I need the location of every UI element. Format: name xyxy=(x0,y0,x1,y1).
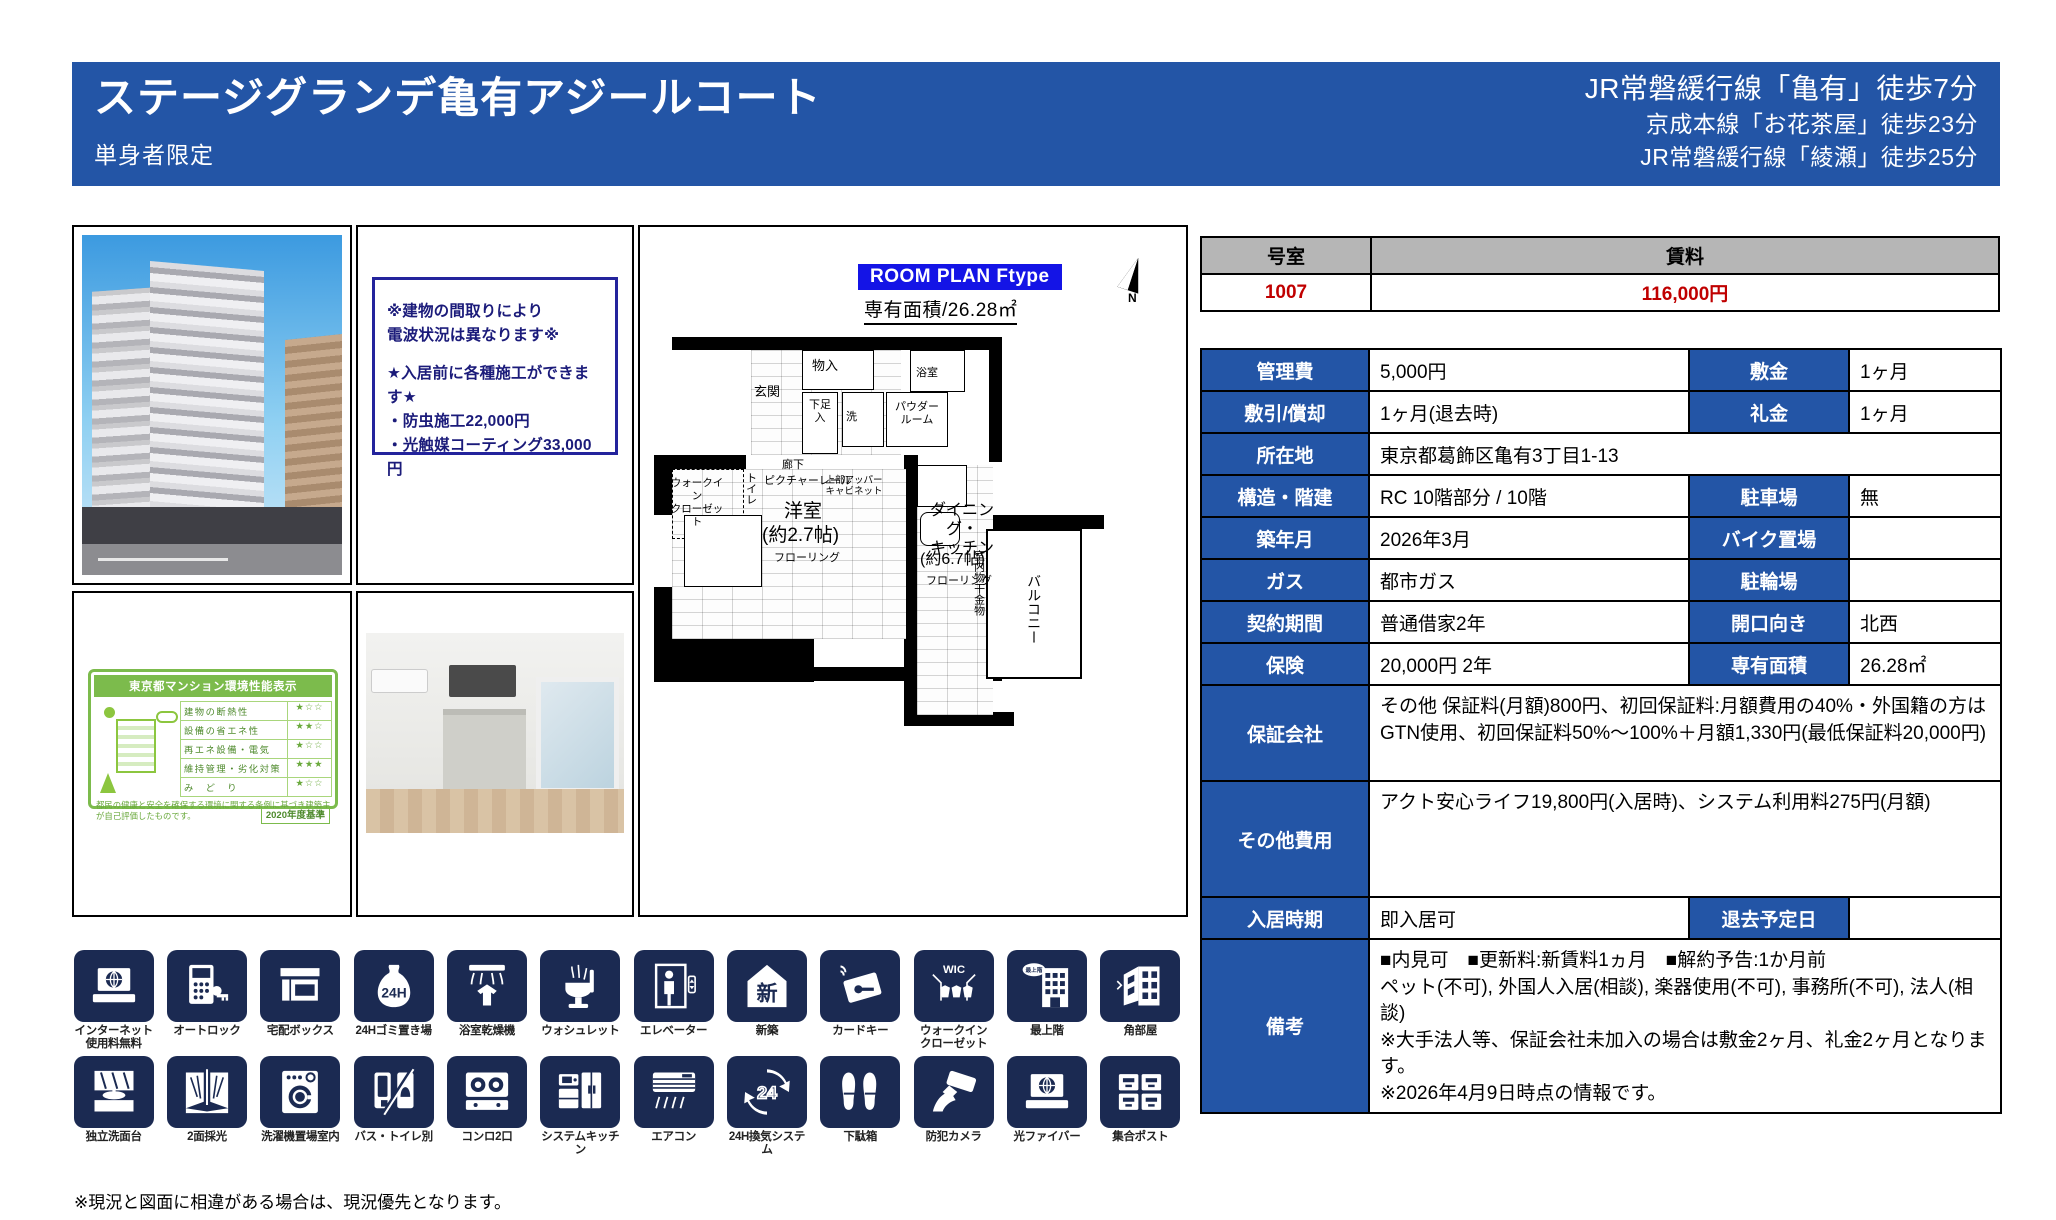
interior-photo-image xyxy=(366,633,624,833)
table-row-remarks: 備考 ■内見可 ■更新料:新賃料1ヵ月 ■解約予告:1か月前 ペット(不可), … xyxy=(1201,939,2001,1113)
24h-garbage-icon: 24H xyxy=(354,950,434,1022)
label-powder-room: パウダー ルーム xyxy=(888,401,946,426)
amenity-caption: オートロック xyxy=(165,1025,248,1038)
note-line-4: ・防虫施工22,000円 xyxy=(387,410,605,434)
table-row: 所在地 東京都葛飾区亀有3丁目1-13 xyxy=(1201,433,2001,475)
label-washitsu-size: (約2.7帖) xyxy=(762,525,839,547)
security-camera-icon xyxy=(914,1056,994,1128)
label-moveout-date: 退去予定日 xyxy=(1689,897,1849,939)
header-access-info: JR常磐緩行線「亀有」徒歩7分 京成本線「お花茶屋」徒歩23分 JR常磐緩行線「… xyxy=(1585,70,1978,174)
eco-label-body: 建物の断熱性 ★☆☆ 設備の省エネ性 ★★☆ 再エネ設備・電気 ★☆☆ 維持管理… xyxy=(94,701,332,797)
amenity-caption: 洗濯機置場室内 xyxy=(259,1131,342,1144)
amenity-caption: 24Hゴミ置き場 xyxy=(352,1025,435,1038)
interior-air-conditioner xyxy=(371,669,428,693)
building-icon xyxy=(116,719,156,773)
label-floor-area: 専有面積 xyxy=(1689,643,1849,685)
label-washitsu-floor: フローリング xyxy=(774,552,840,565)
eco-row-stars: ★☆☆ xyxy=(287,702,331,720)
label-picture-rail: ピクチャーレール xyxy=(764,475,852,488)
remarks-line-1: ■内見可 ■更新料:新賃料1ヵ月 ■解約予告:1か月前 xyxy=(1380,948,1990,975)
amenity-caption: バス・トイレ別 xyxy=(352,1131,435,1144)
wall-interior-vertical xyxy=(904,455,918,680)
elevator-icon xyxy=(634,950,714,1022)
value-facing: 北西 xyxy=(1849,601,2001,643)
svg-text:24: 24 xyxy=(757,1083,777,1103)
amenity-washer-space[interactable]: 洗濯機置場室内 xyxy=(259,1056,342,1156)
amenity-caption: ウォークイン クローゼット xyxy=(912,1025,995,1050)
amenity-bath-toilet-separate[interactable]: バス・トイレ別 xyxy=(352,1056,435,1156)
value-insurance: 20,000円 2年 xyxy=(1369,643,1689,685)
floor-plan-area-label: 専有面積/26.28㎡ xyxy=(864,295,1017,325)
amenity-row-1: インターネット 使用料無料 オートロック 宅配ボックス 24H xyxy=(72,950,1182,1050)
amenity-system-kitchen[interactable]: システムキッチン xyxy=(539,1056,622,1156)
amenity-24h-ventilation[interactable]: 24 24H換気システム xyxy=(725,1056,808,1156)
eco-row-stars: ★☆☆ xyxy=(287,778,331,796)
table-row-other-fee: その他費用 アクト安心ライフ19,800円(入居時)、システム利用料275円(月… xyxy=(1201,781,2001,897)
disclaimer-text: ※現況と図面に相違がある場合は、現況優先となります。 xyxy=(74,1188,511,1213)
corner-room-icon xyxy=(1100,950,1180,1022)
eco-performance-panel: 東京都マンション環境性能表示 建物の断熱性 ★☆☆ 設備の省エネ性 ★★☆ xyxy=(72,591,352,917)
amenity-icon-grid: インターネット 使用料無料 オートロック 宅配ボックス 24H xyxy=(72,950,1182,1163)
svg-text:最上階: 最上階 xyxy=(1025,966,1042,974)
label-built-date: 築年月 xyxy=(1201,517,1369,559)
amenity-caption: エアコン xyxy=(632,1131,715,1144)
property-flyer: ステージグランデ亀有アジールコート 単身者限定 JR常磐緩行線「亀有」徒歩7分 … xyxy=(0,0,2056,1220)
amenity-caption: 光ファイバー xyxy=(1005,1131,1088,1144)
amenity-caption: 最上階 xyxy=(1005,1025,1088,1038)
amenity-24h-garbage[interactable]: 24H 24Hゴミ置き場 xyxy=(352,950,435,1050)
floor-plan-inner: ROOM PLAN Ftype 専有面積/26.28㎡ N xyxy=(646,233,1180,909)
tree-icon xyxy=(100,773,116,793)
label-address: 所在地 xyxy=(1201,433,1369,475)
label-walkin-closet: ウォークイン クローゼット xyxy=(666,477,728,530)
table-row: 管理費 5,000円 敷金 1ヶ月 xyxy=(1201,349,2001,391)
label-other-fee: その他費用 xyxy=(1201,781,1369,897)
value-remarks: ■内見可 ■更新料:新賃料1ヵ月 ■解約予告:1か月前 ペット(不可), 外国人… xyxy=(1369,939,2001,1113)
new-build-icon: 新 xyxy=(727,950,807,1022)
table-row: 築年月 2026年3月 バイク置場 xyxy=(1201,517,2001,559)
wall-top xyxy=(672,337,1002,350)
eco-row-stars: ★★☆ xyxy=(287,721,331,739)
wall-left-notch xyxy=(654,455,746,469)
value-built-date: 2026年3月 xyxy=(1369,517,1689,559)
delivery-box-icon xyxy=(260,950,340,1022)
remarks-line-3: ※大手法人等、保証会社未加入の場合は敷金2ヶ月、礼金2ヶ月となります。 xyxy=(1380,1028,1990,1081)
svg-text:24H: 24H xyxy=(381,984,406,1000)
note-text-block: ※建物の間取りにより 電波状況は異なります※ ★入居前に各種施工ができます★ ・… xyxy=(375,280,615,482)
air-conditioner-icon xyxy=(634,1056,714,1128)
building-photo-image xyxy=(82,235,342,575)
amenity-mailbox[interactable]: 集合ポスト xyxy=(1099,1056,1182,1156)
value-address: 東京都葛飾区亀有3丁目1-13 xyxy=(1369,433,2001,475)
label-insurance: 保険 xyxy=(1201,643,1369,685)
construction-note-panel: ※建物の間取りにより 電波状況は異なります※ ★入居前に各種施工ができます★ ・… xyxy=(356,225,634,585)
label-balcony: バルコニー xyxy=(1026,561,1042,657)
value-other-fee: アクト安心ライフ19,800円(入居時)、システム利用料275円(月額) xyxy=(1369,781,2001,897)
interior-flooring xyxy=(366,789,624,833)
station-line-3: JR常磐緩行線「綾瀬」徒歩25分 xyxy=(1585,141,1978,174)
value-moveout-date xyxy=(1849,897,2001,939)
independent-washstand-icon xyxy=(74,1056,154,1128)
svg-text:新: 新 xyxy=(756,981,777,1006)
amenity-corner-room[interactable]: 角部屋 xyxy=(1099,950,1182,1050)
eco-rating-rows: 建物の断熱性 ★☆☆ 設備の省エネ性 ★★☆ 再エネ設備・電気 ★☆☆ 維持管理… xyxy=(180,701,332,797)
note-line-1: ※建物の間取りにより xyxy=(387,300,605,324)
amenity-bath-dryer[interactable]: 浴室乾燥機 xyxy=(445,950,528,1050)
rent-header-row: 号室 賃料 xyxy=(1201,237,1999,274)
label-genkan: 玄関 xyxy=(754,385,780,400)
label-washitsu-name: 洋室 xyxy=(784,501,822,523)
amenity-caption: エレベーター xyxy=(632,1025,715,1038)
amenity-two-burner-stove[interactable]: コンロ2口 xyxy=(445,1056,528,1156)
value-guarantee-company: その他 保証料(月額)800円、初回保証料:月額費用の40%・外国籍の方は GT… xyxy=(1369,685,2001,781)
label-sen: 洗 xyxy=(846,411,857,424)
rent-summary-table: 号室 賃料 1007 116,000円 xyxy=(1200,236,2000,312)
amenity-caption: 防犯カメラ xyxy=(912,1131,995,1144)
amenity-washlet[interactable]: ウォシュレット xyxy=(539,950,622,1050)
label-indoor-dry: 室内物干金物 xyxy=(972,537,985,629)
amenity-elevator[interactable]: エレベーター xyxy=(632,950,715,1050)
amenity-caption: ウォシュレット xyxy=(539,1025,622,1038)
value-shikibiki: 1ヶ月(退去時) xyxy=(1369,391,1689,433)
building-exterior-photo xyxy=(72,225,352,585)
label-contract-period: 契約期間 xyxy=(1201,601,1369,643)
value-movein-date: 即入居可 xyxy=(1369,897,1689,939)
wall-right-seg xyxy=(989,432,1002,462)
value-kanrihi: 5,000円 xyxy=(1369,349,1689,391)
24h-ventilation-icon: 24 xyxy=(727,1056,807,1128)
amenity-walk-in-closet[interactable]: WIC ウォークイン クローゼット xyxy=(912,950,995,1050)
wall-bottom-left xyxy=(654,637,814,682)
label-shikikin: 敷金 xyxy=(1689,349,1849,391)
table-row: ガス 都市ガス 駐輪場 xyxy=(1201,559,2001,601)
auto-lock-icon xyxy=(167,950,247,1022)
compass-north-label: N xyxy=(1128,291,1137,305)
amenity-security-camera[interactable]: 防犯カメラ xyxy=(912,1056,995,1156)
sun-icon xyxy=(104,707,115,718)
guarantee-line-1: その他 保証料(月額)800円、初回保証料:月額費用の40%・外国籍の方は xyxy=(1380,694,1990,721)
eco-row-label: 設備の省エネ性 xyxy=(181,721,287,739)
amenity-caption: コンロ2口 xyxy=(445,1131,528,1144)
amenity-caption: 宅配ボックス xyxy=(259,1025,342,1038)
amenity-caption: カードキー xyxy=(819,1025,902,1038)
amenity-caption: 下駄箱 xyxy=(819,1131,902,1144)
table-row: 敷引/償却 1ヶ月(退去時) 礼金 1ヶ月 xyxy=(1201,391,2001,433)
card-key-icon xyxy=(820,950,900,1022)
label-rouka: 廊下 xyxy=(782,459,804,472)
optical-fiber-icon xyxy=(1007,1056,1087,1128)
eco-row-label: み ど り xyxy=(181,778,287,796)
page-title: ステージグランデ亀有アジールコート xyxy=(94,76,822,120)
amenity-auto-lock[interactable]: オートロック xyxy=(165,950,248,1050)
amenity-shoe-box[interactable]: 下駄箱 xyxy=(819,1056,902,1156)
wall-right-upper xyxy=(989,337,1002,432)
eco-row: 維持管理・劣化対策 ★★★ xyxy=(180,758,332,777)
compass-icon: N xyxy=(1114,257,1158,309)
header-left: ステージグランデ亀有アジールコート 単身者限定 xyxy=(94,76,822,170)
cloud-icon xyxy=(156,711,178,723)
two-side-light-icon xyxy=(167,1056,247,1128)
note-line-2: 電波状況は異なります※ xyxy=(387,324,605,348)
eco-footnote: 都民の健康と安全を確保する環境に関する条例に基づき建築主が自己評価したものです。… xyxy=(94,800,332,822)
property-detail-table: 管理費 5,000円 敷金 1ヶ月 敷引/償却 1ヶ月(退去時) 礼金 1ヶ月 … xyxy=(1200,348,2002,1114)
street xyxy=(82,544,342,575)
value-floor-area: 26.28㎡ xyxy=(1849,643,2001,685)
amenity-independent-washstand[interactable]: 独立洗面台 xyxy=(72,1056,155,1156)
top-floor-icon: 最上階 xyxy=(1007,950,1087,1022)
label-gas: ガス xyxy=(1201,559,1369,601)
eco-label-title: 東京都マンション環境性能表示 xyxy=(94,675,332,697)
amenity-row-2: 独立洗面台 2面採光 洗濯機置場室内 バス・トイレ別 xyxy=(72,1056,1182,1156)
interior-window xyxy=(536,677,619,793)
system-kitchen-icon xyxy=(540,1056,620,1128)
label-bike-parking: バイク置場 xyxy=(1689,517,1849,559)
amenity-internet-free[interactable]: インターネット 使用料無料 xyxy=(72,950,155,1050)
remarks-line-2: ペット(不可), 外国人入居(相談), 楽器使用(不可), 事務所(不可), 法… xyxy=(1380,975,1990,1028)
eco-row-label: 建物の断熱性 xyxy=(181,702,287,720)
table-row: 保険 20,000円 2年 専有面積 26.28㎡ xyxy=(1201,643,2001,685)
label-guarantee-company: 保証会社 xyxy=(1201,685,1369,781)
eco-standard-badge: 2020年度基準 xyxy=(261,808,330,824)
value-rent: 116,000円 xyxy=(1371,274,1999,311)
label-toilet: トイレ xyxy=(744,459,757,517)
label-structure: 構造・階建 xyxy=(1201,475,1369,517)
washer-space-icon xyxy=(260,1056,340,1128)
label-shikibiki: 敷引/償却 xyxy=(1201,391,1369,433)
note-line-5: ・光触媒コーティング33,000円 xyxy=(387,434,605,482)
label-reikin: 礼金 xyxy=(1689,391,1849,433)
label-kanrihi: 管理費 xyxy=(1201,349,1369,391)
label-remarks: 備考 xyxy=(1201,939,1369,1113)
amenity-caption: 24H換気システム xyxy=(725,1131,808,1156)
remarks-line-4: ※2026年4月9日時点の情報です。 xyxy=(1380,1081,1990,1108)
amenity-caption: システムキッチン xyxy=(539,1131,622,1156)
washlet-icon xyxy=(540,950,620,1022)
value-bicycle-parking xyxy=(1849,559,2001,601)
guarantee-line-2: GTN使用、初回保証料50%〜100%＋月額1,330円(最低保証料20,000… xyxy=(1380,721,1990,748)
amenity-caption: 浴室乾燥機 xyxy=(445,1025,528,1038)
amenity-card-key[interactable]: カードキー xyxy=(819,950,902,1050)
amenity-two-side-light[interactable]: 2面採光 xyxy=(165,1056,248,1156)
label-facing: 開口向き xyxy=(1689,601,1849,643)
two-burner-stove-icon xyxy=(447,1056,527,1128)
amenity-caption: 独立洗面台 xyxy=(72,1131,155,1144)
station-line-1: JR常磐緩行線「亀有」徒歩7分 xyxy=(1585,70,1978,108)
header-room-no: 号室 xyxy=(1201,237,1371,274)
amenity-top-floor[interactable]: 最上階 最上階 xyxy=(1005,950,1088,1050)
interior-range-hood xyxy=(449,665,516,697)
svg-text:WIC: WIC xyxy=(943,964,965,976)
label-bicycle-parking: 駐輪場 xyxy=(1689,559,1849,601)
amenity-air-conditioner[interactable]: エアコン xyxy=(632,1056,715,1156)
eco-row: 再エネ設備・電気 ★☆☆ xyxy=(180,739,332,758)
header-rent: 賃料 xyxy=(1371,237,1999,274)
amenity-caption: 集合ポスト xyxy=(1099,1131,1182,1144)
label-movein-date: 入居時期 xyxy=(1201,897,1369,939)
label-dk-name: ダイニング・ キッチン xyxy=(920,501,1004,559)
eco-building-illustration-icon xyxy=(94,701,180,797)
mailbox-icon xyxy=(1100,1056,1180,1128)
value-gas: 都市ガス xyxy=(1369,559,1689,601)
station-line-2: 京成本線「お花茶屋」徒歩23分 xyxy=(1585,108,1978,141)
table-row: 契約期間 普通借家2年 開口向き 北西 xyxy=(1201,601,2001,643)
eco-row-label: 再エネ設備・電気 xyxy=(181,740,287,758)
room-plan-badge: ROOM PLAN Ftype xyxy=(858,264,1062,290)
walk-in-closet-icon: WIC xyxy=(914,950,994,1022)
floor-plan-drawing: 玄関 物入 下足入 洗 パウダー ルーム 浴室 廊下 トイレ 上部アッパー キャ… xyxy=(654,337,1174,799)
amenity-optical-fiber[interactable]: 光ファイバー xyxy=(1005,1056,1088,1156)
eco-row-stars: ★★★ xyxy=(287,759,331,777)
label-gesokuire: 下足入 xyxy=(806,399,834,424)
wall-dk-bottom xyxy=(904,667,918,725)
amenity-delivery-box[interactable]: 宅配ボックス xyxy=(259,950,342,1050)
table-row: 構造・階建 RC 10階部分 / 10階 駐車場 無 xyxy=(1201,475,2001,517)
page-header: ステージグランデ亀有アジールコート 単身者限定 JR常磐緩行線「亀有」徒歩7分 … xyxy=(72,62,2000,186)
tokyo-eco-label: 東京都マンション環境性能表示 建物の断熱性 ★☆☆ 設備の省エネ性 ★★☆ xyxy=(88,669,338,809)
eco-row: 設備の省エネ性 ★★☆ xyxy=(180,720,332,739)
amenity-caption: 角部屋 xyxy=(1099,1025,1182,1038)
value-structure: RC 10階部分 / 10階 xyxy=(1369,475,1689,517)
floor-plan-panel: ROOM PLAN Ftype 専有面積/26.28㎡ N xyxy=(638,225,1188,917)
eco-row-label: 維持管理・劣化対策 xyxy=(181,759,287,777)
interior-photo xyxy=(356,591,634,917)
value-contract-period: 普通借家2年 xyxy=(1369,601,1689,643)
note-line-3: ★入居前に各種施工ができます★ xyxy=(387,362,605,410)
table-row-guarantee: 保証会社 その他 保証料(月額)800円、初回保証料:月額費用の40%・外国籍の… xyxy=(1201,685,2001,781)
label-monoire: 物入 xyxy=(812,359,838,374)
value-room-no: 1007 xyxy=(1201,274,1371,311)
amenity-caption: 2面採光 xyxy=(165,1131,248,1144)
header-subtitle: 単身者限定 xyxy=(94,136,822,170)
value-parking: 無 xyxy=(1849,475,2001,517)
eco-row: 建物の断熱性 ★☆☆ xyxy=(180,701,332,720)
bath-dryer-icon xyxy=(447,950,527,1022)
shoe-box-icon xyxy=(820,1056,900,1128)
amenity-caption: 新築 xyxy=(725,1025,808,1038)
bath-toilet-separate-icon xyxy=(354,1056,434,1128)
internet-free-icon xyxy=(74,950,154,1022)
label-yokushitsu: 浴室 xyxy=(916,367,938,380)
rent-value-row: 1007 116,000円 xyxy=(1201,274,1999,311)
label-parking: 駐車場 xyxy=(1689,475,1849,517)
amenity-caption: インターネット 使用料無料 xyxy=(72,1025,155,1050)
table-row-movein: 入居時期 即入居可 退去予定日 xyxy=(1201,897,2001,939)
eco-row-stars: ★☆☆ xyxy=(287,740,331,758)
value-reikin: 1ヶ月 xyxy=(1849,391,2001,433)
amenity-new-build[interactable]: 新 新築 xyxy=(725,950,808,1050)
interior-kitchen-counter xyxy=(443,709,526,801)
eco-row: み ど り ★☆☆ xyxy=(180,777,332,797)
note-inner-border: ※建物の間取りにより 電波状況は異なります※ ★入居前に各種施工ができます★ ・… xyxy=(372,277,618,455)
value-shikikin: 1ヶ月 xyxy=(1849,349,2001,391)
value-bike-parking xyxy=(1849,517,2001,559)
